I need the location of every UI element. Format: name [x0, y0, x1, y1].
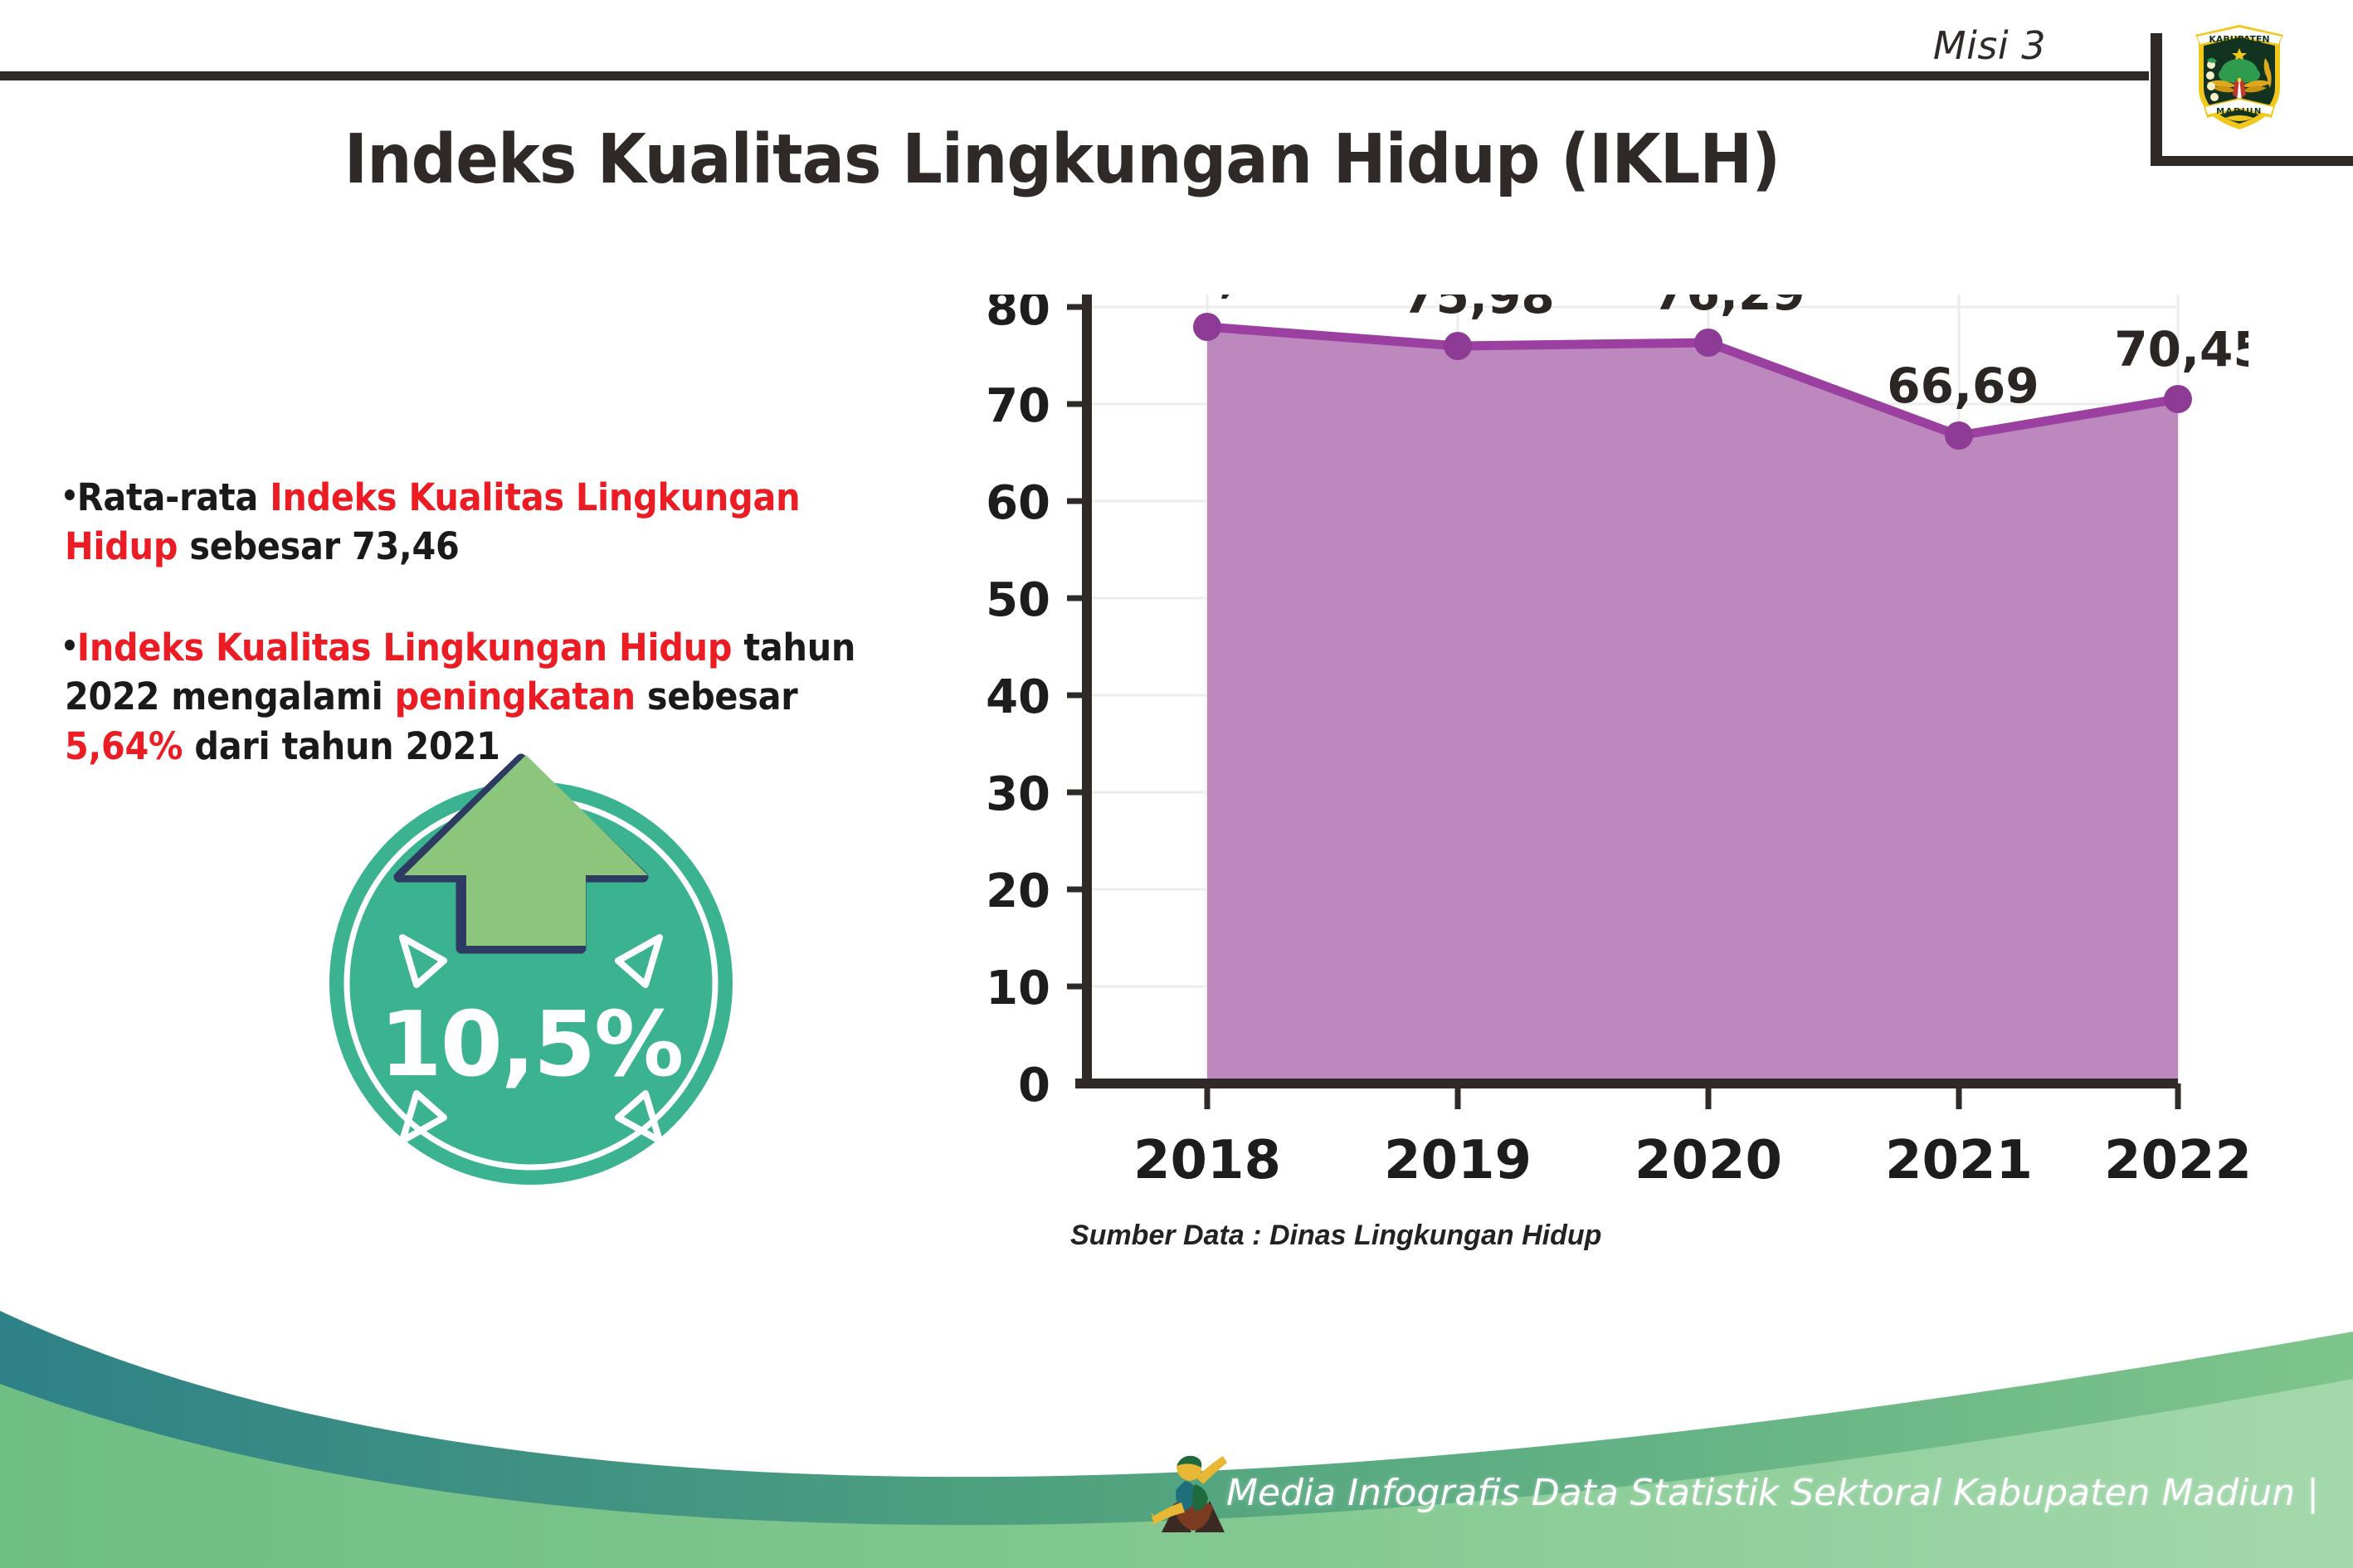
- data-point-2018: [1193, 313, 1221, 341]
- data-point-2020: [1694, 329, 1722, 357]
- chart-y-tick-labels: 80 70 60 50 40 30 20 10 0: [986, 295, 1050, 1113]
- chart-area-fill: [1207, 327, 2178, 1083]
- ytick-label-30: 30: [986, 767, 1050, 821]
- xtick-label-2020: 2020: [1634, 1130, 1782, 1191]
- xtick-label-2018: 2018: [1133, 1130, 1281, 1191]
- bullet-item-average: Rata-rata Indeks Kualitas Lingkungan Hid…: [65, 473, 904, 572]
- bullet-dot-icon: [65, 489, 75, 500]
- ytick-label-40: 40: [986, 670, 1050, 724]
- data-point-2019: [1444, 332, 1472, 360]
- bullet-dot-icon: [65, 640, 75, 650]
- infographic-page: Misi 3 KABUPATEN: [0, 0, 2353, 1568]
- data-label-2021: 66,69: [1887, 358, 2039, 414]
- emblem-bottom-banner-text: MADIUN: [2216, 107, 2263, 116]
- footer-caption: Media Infografis Data Statistik Sektoral…: [1226, 1472, 2319, 1514]
- ytick-label-10: 10: [986, 962, 1050, 1015]
- bracket-vertical: [2151, 33, 2162, 166]
- data-label-2020: 76,29: [1653, 295, 1805, 321]
- page-title: Indeks Kualitas Lingkungan Hidup (IKLH): [75, 120, 2050, 199]
- xtick-label-2021: 2021: [1885, 1130, 2033, 1191]
- summary-bullet-list: Rata-rata Indeks Kualitas Lingkungan Hid…: [65, 473, 977, 771]
- bullet-item-increase: Indeks Kualitas Lingkungan Hidup tahun 2…: [65, 623, 904, 771]
- ytick-label-70: 70: [986, 379, 1050, 433]
- increase-badge: 10,5%: [324, 751, 738, 1191]
- misi-label: Misi 3: [1933, 23, 2046, 68]
- emblem-top-banner-text: KABUPATEN: [2209, 34, 2269, 45]
- xtick-label-2022: 2022: [2104, 1130, 2248, 1191]
- data-label-2018: 77,91: [1152, 295, 1303, 304]
- bullet-2-segment-2: peningkatan: [395, 674, 636, 718]
- bullet-2-segment-3: sebesar: [636, 674, 798, 718]
- ytick-label-20: 20: [986, 864, 1050, 918]
- data-label-2022: 70,45: [2114, 321, 2248, 377]
- ytick-label-60: 60: [986, 476, 1050, 530]
- bracket-horizontal: [2151, 156, 2353, 166]
- data-point-2022: [2164, 385, 2192, 413]
- xtick-label-2019: 2019: [1384, 1130, 1532, 1191]
- chart-source-caption: Sumber Data : Dinas Lingkungan Hidup: [1070, 1220, 1601, 1252]
- data-label-2019: 75,98: [1402, 295, 1554, 324]
- bullet-2-segment-4: 5,64%: [65, 724, 183, 768]
- ytick-label-80: 80: [986, 295, 1050, 336]
- kabupaten-madiun-emblem-icon: KABUPATEN MADIUN: [2189, 15, 2290, 133]
- ytick-label-0: 0: [1018, 1059, 1050, 1113]
- chart-x-tick-labels: 2018 2019 2020 2021 2022: [1133, 1130, 2248, 1191]
- data-point-2021: [1945, 421, 1973, 450]
- bullet-1-segment-0: Rata-rata: [77, 475, 270, 519]
- iklh-area-chart: 80 70 60 50 40 30 20 10 0 2018 2019 2020…: [954, 295, 2248, 1224]
- ytick-label-50: 50: [986, 573, 1050, 627]
- bullet-1-segment-2: sebesar 73,46: [178, 524, 459, 568]
- bullet-2-segment-0: Indeks Kualitas Lingkungan Hidup: [77, 626, 732, 670]
- header-divider-rule: [0, 71, 2149, 80]
- dancer-figure-icon: [1147, 1439, 1238, 1547]
